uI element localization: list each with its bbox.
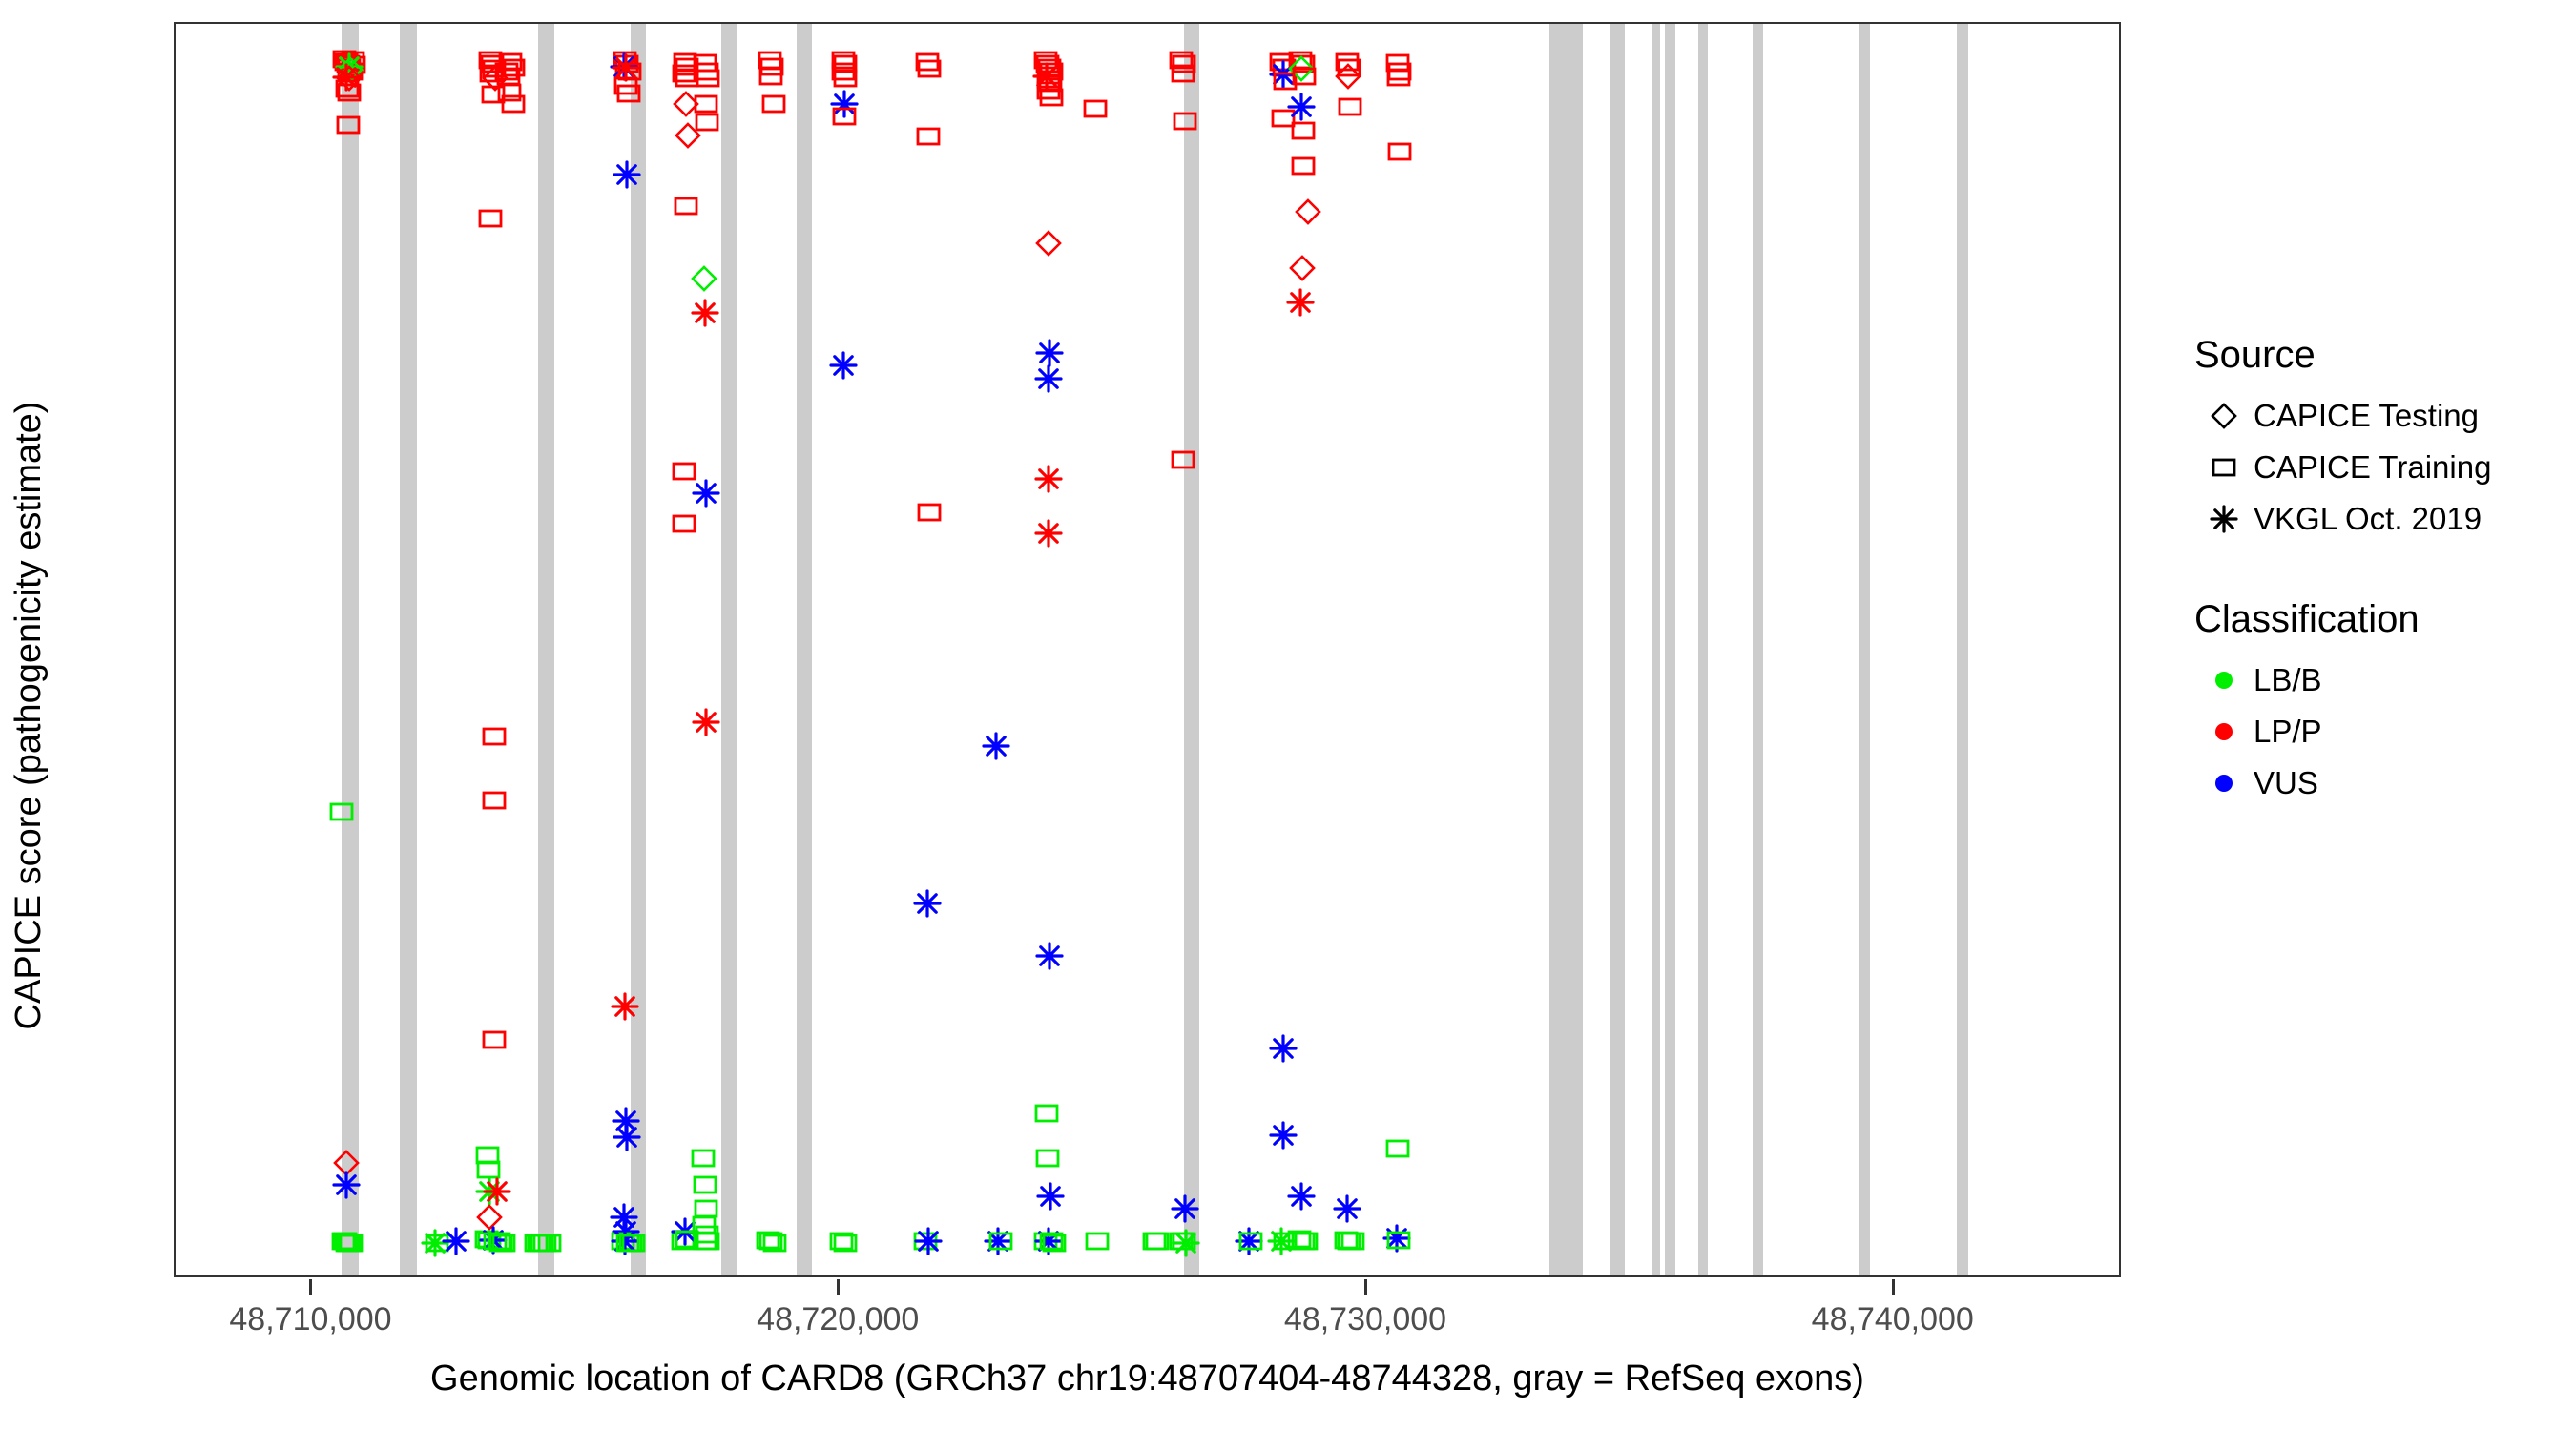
- data-point: [1337, 1232, 1361, 1251]
- data-point: [756, 1231, 780, 1250]
- data-point: [829, 1232, 854, 1251]
- x-tick-mark: [837, 1279, 840, 1295]
- data-point: [425, 1234, 449, 1253]
- data-point: [696, 69, 720, 88]
- data-point: [482, 1030, 507, 1049]
- chart-root: CAPICE score (pathogenicity estimate) Ge…: [0, 0, 2576, 1431]
- legend-item-label: VKGL Oct. 2019: [2254, 501, 2482, 537]
- data-point: [1035, 54, 1060, 73]
- data-point: [475, 1203, 504, 1232]
- data-point: [335, 52, 364, 81]
- legend-item-label: CAPICE Testing: [2254, 398, 2479, 434]
- asterisk-icon: [2194, 505, 2254, 533]
- data-point: [675, 1230, 699, 1249]
- data-point: [337, 58, 362, 77]
- data-point: [1172, 1229, 1200, 1257]
- data-point: [1385, 1139, 1410, 1158]
- circle-icon: [2194, 720, 2254, 743]
- data-point: [482, 791, 507, 810]
- data-point: [1238, 1232, 1263, 1251]
- data-point: [832, 107, 857, 126]
- data-point: [758, 67, 783, 86]
- data-point: [612, 1107, 640, 1135]
- data-point: [336, 55, 364, 84]
- data-point: [672, 514, 696, 533]
- data-point: [1387, 62, 1412, 81]
- data-point: [1337, 58, 1361, 77]
- data-point: [1272, 58, 1297, 77]
- data-point: [982, 732, 1010, 760]
- data-point: [1235, 1227, 1263, 1255]
- x-tick-label: 48,720,000: [757, 1301, 919, 1338]
- legend-item[interactable]: LP/P: [2194, 706, 2557, 757]
- data-point: [537, 1234, 562, 1253]
- data-point: [1269, 60, 1298, 89]
- data-point: [1267, 1227, 1296, 1255]
- data-point: [501, 94, 526, 114]
- data-point: [1085, 1232, 1110, 1251]
- data-point: [332, 50, 357, 69]
- legend-title-classification: Classification: [2194, 598, 2557, 641]
- data-point: [833, 1234, 858, 1253]
- plot-panel: [174, 22, 2121, 1277]
- data-point: [478, 51, 503, 70]
- data-point: [674, 121, 702, 150]
- data-point: [694, 1199, 718, 1218]
- data-point: [1145, 1232, 1170, 1251]
- data-point: [612, 1217, 640, 1246]
- data-point: [491, 1234, 516, 1253]
- data-point: [1271, 109, 1296, 128]
- data-point: [497, 83, 522, 102]
- data-point: [1335, 52, 1360, 72]
- data-point: [1294, 1232, 1319, 1251]
- data-point: [612, 53, 640, 82]
- data-point: [1340, 1232, 1365, 1251]
- x-tick-mark: [309, 1279, 312, 1295]
- data-point: [1287, 1182, 1316, 1211]
- data-point: [1034, 1104, 1059, 1123]
- data-point: [1382, 1224, 1411, 1253]
- data-point: [695, 62, 719, 81]
- data-point: [611, 1232, 635, 1251]
- data-point: [341, 51, 365, 70]
- x-axis-title: Genomic location of CARD8 (GRCh37 chr19:…: [174, 1355, 2121, 1402]
- data-point: [759, 57, 784, 76]
- data-point: [1169, 1232, 1194, 1251]
- data-point: [339, 62, 364, 81]
- data-point: [1385, 53, 1410, 73]
- data-point: [342, 55, 366, 74]
- data-point: [758, 1232, 783, 1251]
- data-point: [532, 1234, 557, 1253]
- data-point: [1033, 1232, 1058, 1251]
- data-point: [483, 1177, 511, 1206]
- data-point: [672, 90, 700, 118]
- legend-title-source: Source: [2194, 334, 2557, 377]
- data-point: [614, 54, 639, 73]
- data-point: [477, 1231, 502, 1250]
- data-point: [1287, 1230, 1312, 1249]
- data-point: [336, 54, 361, 73]
- data-point: [481, 85, 506, 104]
- data-point: [830, 90, 859, 118]
- legend-item[interactable]: VKGL Oct. 2019: [2194, 493, 2557, 545]
- data-point: [1269, 1121, 1298, 1150]
- data-point: [1039, 88, 1064, 107]
- data-point: [1171, 1194, 1199, 1223]
- data-point: [334, 52, 359, 72]
- legend-item-label: CAPICE Training: [2254, 449, 2491, 486]
- data-point: [1039, 1232, 1064, 1251]
- data-point: [762, 1234, 787, 1253]
- data-point: [332, 1149, 361, 1177]
- data-point: [337, 1234, 362, 1253]
- data-point: [1036, 81, 1061, 100]
- data-point: [496, 67, 521, 86]
- data-point: [442, 1227, 470, 1255]
- data-point: [695, 1225, 719, 1244]
- data-point: [1032, 62, 1061, 91]
- legend-item[interactable]: LB/B: [2194, 654, 2557, 706]
- data-point: [694, 94, 718, 114]
- data-point: [1142, 1232, 1167, 1251]
- data-point: [1038, 73, 1063, 93]
- data-point: [916, 127, 941, 146]
- data-point: [1287, 54, 1316, 83]
- data-point: [616, 84, 641, 103]
- data-point: [479, 64, 504, 83]
- data-point: [337, 83, 362, 102]
- data-point: [917, 503, 942, 522]
- data-point: [833, 54, 858, 73]
- data-point: [675, 57, 699, 76]
- data-point: [479, 1226, 508, 1255]
- data-point: [611, 992, 639, 1021]
- legend-item-label: LP/P: [2254, 714, 2322, 750]
- data-point: [335, 64, 364, 93]
- data-point: [692, 1215, 717, 1234]
- legend-item[interactable]: CAPICE Training: [2194, 442, 2557, 493]
- data-point: [488, 1234, 513, 1253]
- data-point: [1039, 62, 1064, 81]
- data-point: [695, 113, 719, 132]
- data-point: [1034, 465, 1063, 493]
- data-point: [1172, 1232, 1196, 1251]
- data-point: [613, 76, 638, 95]
- data-point: [530, 1234, 554, 1253]
- x-tick-label: 48,730,000: [1284, 1301, 1446, 1338]
- data-point: [480, 54, 505, 73]
- legend-item-label: VUS: [2254, 765, 2318, 801]
- data-point: [1034, 1227, 1063, 1255]
- diamond-icon: [2194, 402, 2254, 430]
- data-point: [1037, 58, 1062, 77]
- data-point: [483, 1232, 508, 1251]
- data-point: [672, 462, 696, 481]
- data-point: [494, 62, 519, 81]
- data-point: [1033, 51, 1058, 70]
- data-point: [336, 115, 361, 135]
- data-point: [1291, 121, 1316, 140]
- data-point: [613, 1123, 641, 1151]
- data-point: [692, 708, 720, 736]
- data-point: [1291, 1232, 1316, 1251]
- data-point: [1288, 51, 1313, 70]
- data-point: [335, 79, 360, 98]
- data-point: [1269, 52, 1294, 72]
- legend-item[interactable]: CAPICE Testing: [2194, 390, 2557, 442]
- data-point: [672, 64, 696, 83]
- data-point: [613, 51, 637, 70]
- data-point: [610, 1203, 638, 1232]
- data-point: [692, 479, 720, 508]
- data-point: [332, 63, 361, 92]
- legend-item-label: LB/B: [2254, 662, 2322, 698]
- data-point: [527, 1234, 551, 1253]
- data-point: [1273, 72, 1298, 91]
- legend-item[interactable]: VUS: [2194, 757, 2557, 809]
- data-point: [1034, 364, 1063, 393]
- x-tick-label: 48,740,000: [1812, 1301, 1974, 1338]
- data-point: [693, 1232, 717, 1251]
- data-point: [1334, 62, 1362, 91]
- data-point: [618, 1234, 643, 1253]
- data-point: [476, 1160, 501, 1179]
- x-tick-mark: [1364, 1279, 1367, 1295]
- data-point: [1288, 254, 1317, 282]
- data-point: [1334, 1231, 1359, 1250]
- data-point: [691, 299, 719, 327]
- data-point: [671, 1232, 696, 1251]
- data-point: [613, 160, 641, 189]
- data-point: [1292, 67, 1317, 86]
- circle-icon: [2194, 669, 2254, 692]
- data-point: [1291, 54, 1316, 73]
- data-point: [1083, 99, 1108, 118]
- circle-icon: [2194, 772, 2254, 795]
- data-point: [1036, 1182, 1065, 1211]
- data-point: [917, 59, 942, 78]
- data-point: [1386, 1231, 1411, 1250]
- data-point: [617, 62, 642, 81]
- data-point: [1294, 197, 1322, 226]
- data-point: [1036, 70, 1061, 89]
- data-point: [333, 1232, 358, 1251]
- data-point: [913, 889, 942, 918]
- data-point: [615, 1234, 640, 1253]
- data-point: [693, 53, 717, 73]
- data-point: [1171, 64, 1195, 83]
- data-point: [475, 1146, 500, 1165]
- data-point: [831, 51, 856, 70]
- data-point: [482, 727, 507, 746]
- data-point: [487, 1232, 511, 1251]
- x-tick-label: 48,710,000: [229, 1301, 391, 1338]
- data-point: [829, 351, 858, 380]
- data-point: [691, 1149, 716, 1168]
- data-point: [1387, 142, 1412, 161]
- data-point: [524, 1234, 549, 1253]
- data-point: [1287, 93, 1316, 121]
- data-point: [1034, 519, 1063, 548]
- x-tick-mark: [1892, 1279, 1895, 1295]
- data-point: [1386, 68, 1411, 87]
- data-point: [1035, 1149, 1060, 1168]
- data-point: [335, 1234, 360, 1253]
- legend: SourceCAPICE TestingCAPICE TrainingVKGL …: [2194, 334, 2557, 809]
- data-point: [475, 1177, 504, 1206]
- data-point: [1286, 288, 1315, 317]
- data-point: [1172, 54, 1196, 73]
- data-point: [674, 197, 698, 216]
- data-point: [673, 52, 697, 72]
- scatter-points-layer: [176, 24, 2119, 1275]
- data-point: [474, 1230, 499, 1249]
- data-point: [482, 59, 507, 78]
- data-point: [758, 51, 782, 70]
- data-point: [421, 1229, 449, 1257]
- data-point: [611, 1227, 639, 1255]
- data-point: [1273, 1232, 1298, 1251]
- data-point: [1034, 229, 1063, 258]
- data-point: [331, 1232, 356, 1251]
- data-point: [831, 62, 856, 81]
- data-point: [1035, 942, 1064, 970]
- data-point: [339, 1234, 364, 1253]
- data-point: [761, 94, 786, 114]
- data-point: [988, 1232, 1013, 1251]
- data-point: [1173, 112, 1197, 131]
- data-point: [498, 52, 523, 72]
- y-axis-title: CAPICE score (pathogenicity estimate): [0, 0, 57, 1431]
- data-point: [1035, 339, 1064, 367]
- data-point: [481, 64, 509, 93]
- data-point: [1269, 1034, 1298, 1063]
- data-point: [690, 264, 718, 293]
- data-point: [696, 1232, 720, 1251]
- data-point: [1169, 51, 1194, 70]
- data-point: [1291, 156, 1316, 176]
- data-point: [833, 69, 858, 88]
- data-point: [478, 209, 503, 228]
- data-point: [693, 1175, 717, 1194]
- square-icon: [2194, 458, 2254, 477]
- data-point: [329, 802, 354, 821]
- data-point: [1042, 1234, 1067, 1253]
- data-point: [1333, 1194, 1361, 1223]
- data-point: [501, 58, 526, 77]
- data-point: [610, 52, 638, 81]
- data-point: [332, 1171, 361, 1199]
- data-point: [621, 1234, 646, 1253]
- data-point: [675, 69, 699, 88]
- data-point: [671, 1217, 699, 1246]
- data-point: [984, 1227, 1012, 1255]
- data-point: [914, 1227, 943, 1255]
- data-point: [913, 1232, 938, 1251]
- data-point: [915, 52, 940, 72]
- data-point: [1171, 450, 1195, 469]
- data-point: [1338, 97, 1362, 116]
